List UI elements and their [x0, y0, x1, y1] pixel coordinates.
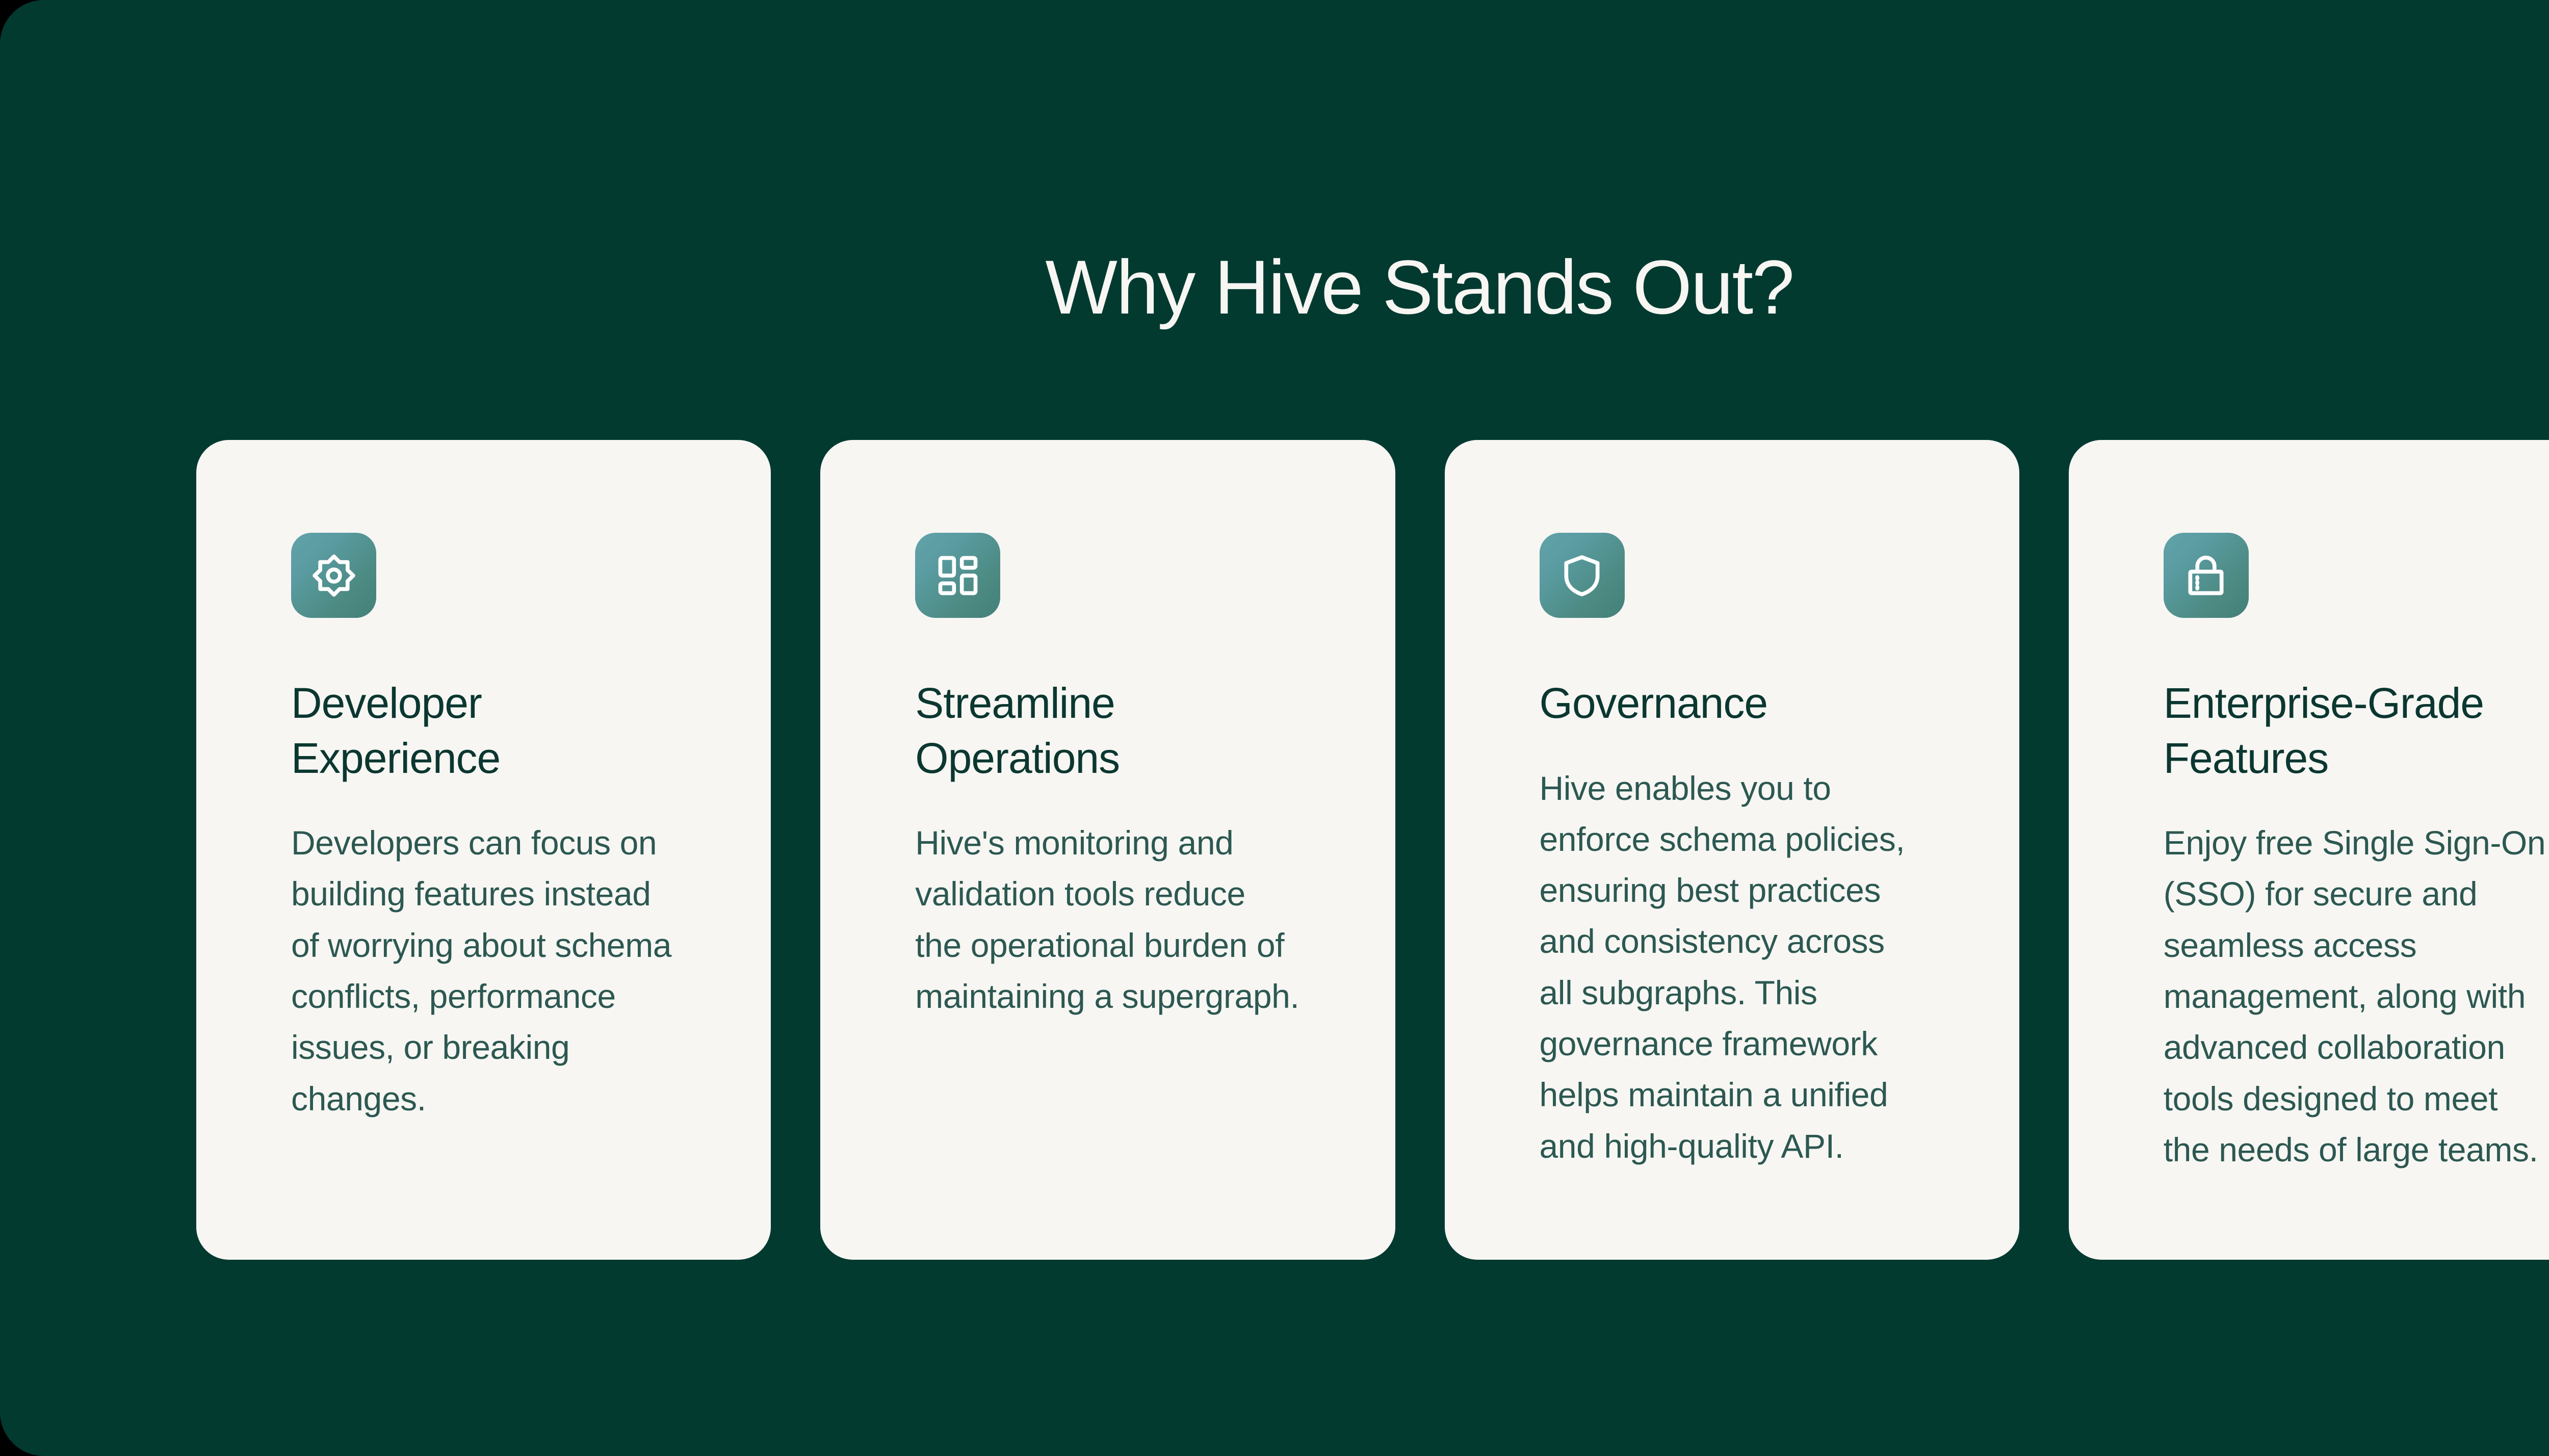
gear-icon — [310, 552, 357, 599]
gear-icon-tile — [291, 533, 376, 618]
dashboard-grid-icon — [934, 552, 981, 599]
dashboard-grid-icon-tile — [915, 533, 1000, 618]
screenshot-stage: Why Hive Stands Out? Developer Experienc… — [0, 0, 2549, 1456]
shield-icon — [1558, 552, 1605, 599]
feature-card-body: Developers can focus on building feature… — [291, 817, 676, 1124]
feature-card-governance[interactable]: Governance Hive enables you to enforce s… — [1445, 440, 2019, 1260]
feature-card-title: Enterprise-Grade Features — [2164, 676, 2548, 786]
feature-card-body: Hive's monitoring and validation tools r… — [915, 817, 1300, 1022]
feature-section-panel: Why Hive Stands Out? Developer Experienc… — [0, 0, 2549, 1456]
page-title: Why Hive Stands Out? — [0, 244, 2549, 330]
feature-card-body: Hive enables you to enforce schema polic… — [1540, 763, 1924, 1172]
feature-cards-row: Developer Experience Developers can focu… — [196, 440, 2549, 1260]
lock-icon-tile — [2164, 533, 2249, 618]
shield-icon-tile — [1540, 533, 1625, 618]
feature-card-title: Governance — [1540, 676, 1768, 731]
feature-card-body: Enjoy free Single Sign-On (SSO) for secu… — [2164, 817, 2548, 1175]
feature-card-streamline-operations[interactable]: Streamline Operations Hive's monitoring … — [820, 440, 1395, 1260]
feature-card-title: Streamline Operations — [915, 676, 1300, 786]
feature-card-developer-experience[interactable]: Developer Experience Developers can focu… — [196, 440, 771, 1260]
lock-icon — [2182, 552, 2229, 599]
feature-card-title: Developer Experience — [291, 676, 676, 786]
feature-card-enterprise-grade-features[interactable]: Enterprise-Grade Features Enjoy free Sin… — [2069, 440, 2549, 1260]
